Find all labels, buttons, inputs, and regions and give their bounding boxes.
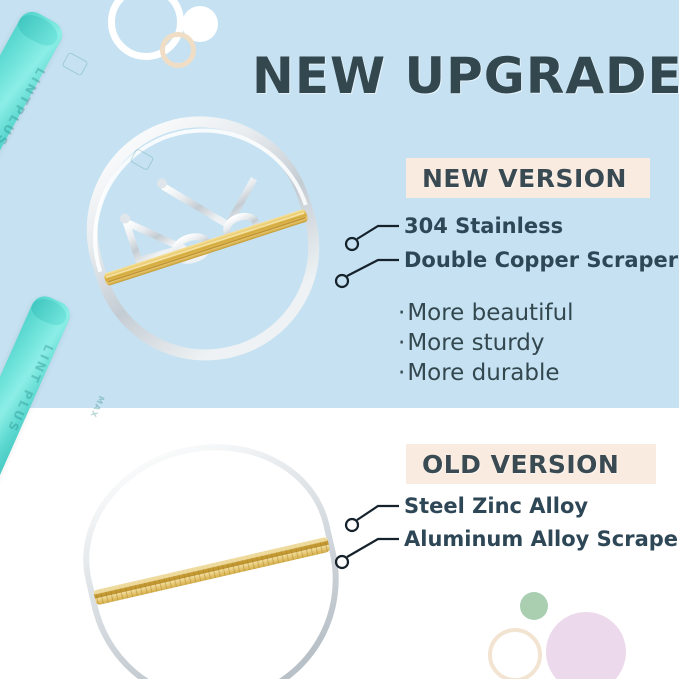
list-item: ·More sturdy <box>398 328 574 358</box>
bullet-text: More sturdy <box>407 330 544 356</box>
bullet-text: More durable <box>407 360 559 386</box>
section-band-new-label: NEW VERSION <box>422 164 627 193</box>
callout-old-2: Aluminum Alloy Scraper <box>404 527 679 551</box>
bullet-marker: · <box>398 330 405 356</box>
bullet-marker: · <box>398 360 405 386</box>
callout-new-1: 304 Stainless <box>404 214 563 238</box>
callout-old-1: Steel Zinc Alloy <box>404 494 588 518</box>
product-comparison-infographic: NEW UPGRADE <box>0 0 679 679</box>
benefit-list: ·More beautiful ·More sturdy ·More durab… <box>398 298 574 388</box>
section-band-new-version: NEW VERSION <box>406 158 650 198</box>
decor-dot-green <box>520 592 548 620</box>
bullet-text: More beautiful <box>407 300 573 326</box>
section-band-old-label: OLD VERSION <box>422 450 619 479</box>
list-item: ·More durable <box>398 358 574 388</box>
bullet-marker: · <box>398 300 405 326</box>
list-item: ·More beautiful <box>398 298 574 328</box>
section-band-old-version: OLD VERSION <box>406 444 656 484</box>
callout-new-2: Double Copper Scraper <box>404 248 678 272</box>
decor-ring-cream-large <box>488 628 542 679</box>
